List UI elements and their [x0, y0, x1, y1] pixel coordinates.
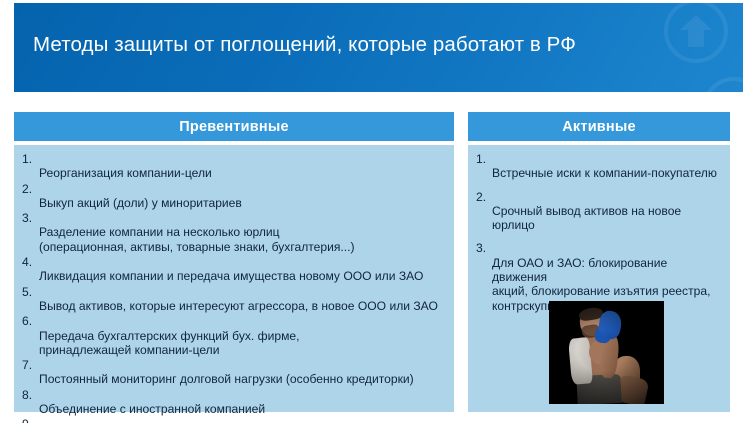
list-item-number: 2.	[476, 190, 486, 204]
list-item-number: 1.	[22, 152, 32, 166]
list-item-text: Постоянный мониторинг долговой нагрузки …	[39, 372, 414, 386]
list-item-number: 2.	[22, 182, 32, 196]
page-title: Методы защиты от поглощений, которые раб…	[33, 33, 576, 57]
list-item: 8.Объединение с иностранной компанией	[22, 388, 448, 417]
list-item-number: 4.	[22, 255, 32, 269]
boxer-photo	[549, 301, 664, 404]
list-item-text: Передача бухгалтерских функций бух. фирм…	[39, 329, 299, 357]
slide-title-bar: Методы защиты от поглощений, которые раб…	[14, 3, 743, 92]
list-item: 9.Поиск белого рыцаря	[22, 417, 448, 423]
list-item: 1.Реорганизация компании-цели	[22, 152, 448, 181]
circle-arrow-up-icon	[702, 77, 743, 92]
list-item-number: 8.	[22, 388, 32, 402]
list-item: 2.Выкуп акций (доли) у миноритариев	[22, 182, 448, 211]
circle-arrow-up-icon	[664, 3, 728, 63]
list-item-number: 3.	[22, 211, 32, 225]
list-item: 1.Встречные иски к компании-покупателю	[476, 152, 724, 181]
list-item: 6.Передача бухгалтерских функций бух. фи…	[22, 314, 448, 357]
list-item-number: 1.	[476, 152, 486, 166]
column-body-preventive: 1.Реорганизация компании-цели 2.Выкуп ак…	[14, 145, 454, 412]
list-item-number: 3.	[476, 241, 486, 255]
list-item-text: Реорганизация компании-цели	[39, 166, 212, 180]
column-header-preventive: Превентивные	[14, 112, 454, 141]
list-item: 5.Вывод активов, которые интересуют агре…	[22, 285, 448, 314]
boxer-photo-image	[549, 301, 664, 404]
list-item: 2.Срочный вывод активов на новое юрлицо	[476, 190, 724, 233]
list-item: 4.Ликвидация компании и передача имущест…	[22, 255, 448, 284]
list-item-number: 7.	[22, 358, 32, 372]
list-item: 7.Постоянный мониторинг долговой нагрузк…	[22, 358, 448, 387]
list-item-text: Срочный вывод активов на новое юрлицо	[492, 204, 681, 232]
list-item-number: 5.	[22, 285, 32, 299]
list-item-text: Вывод активов, которые интересуют агресс…	[39, 299, 438, 313]
list-item-text: Встречные иски к компании-покупателю	[492, 166, 717, 180]
list-item-number: 9.	[22, 417, 32, 423]
list-item-text: Ликвидация компании и передача имущества…	[39, 269, 423, 283]
list-item-text: Выкуп акций (доли) у миноритариев	[39, 196, 242, 210]
list-item: 3.Разделение компании на несколько юрлиц…	[22, 211, 448, 254]
list-item-text: Разделение компании на несколько юрлиц (…	[39, 225, 355, 253]
list-item-text: Объединение с иностранной компанией	[39, 402, 265, 416]
list-item-number: 6.	[22, 314, 32, 328]
column-header-active: Активные	[468, 112, 730, 141]
slide: Методы защиты от поглощений, которые раб…	[0, 0, 743, 423]
